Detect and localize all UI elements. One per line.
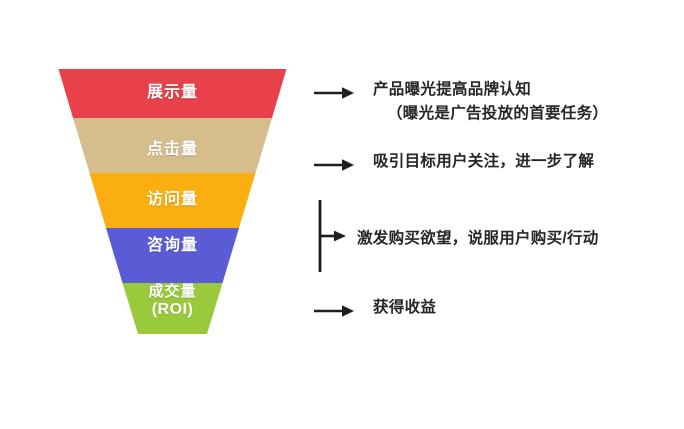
annotation-text-visits-consults: 激发购买欲望，说服用户购买/行动 xyxy=(357,227,599,251)
arrow-right-icon xyxy=(313,85,355,101)
annotation-line2-impressions: （曝光是广告投放的首要任务） xyxy=(373,102,608,126)
funnel-shape xyxy=(50,62,295,342)
annotation-text-clicks: 吸引目标用户关注，进一步了解 xyxy=(373,150,594,174)
conversion-funnel: 展示量 点击量 访问量 咨询量 成交量 (ROI) xyxy=(50,62,295,342)
arrow-right-icon xyxy=(313,303,355,319)
funnel-band-5 xyxy=(123,283,223,334)
funnel-band-1 xyxy=(59,69,287,118)
annotation-line1-impressions: 产品曝光提高品牌认知 xyxy=(373,81,531,98)
bracket-arrow-icon xyxy=(317,198,347,274)
arrow-right-icon xyxy=(313,157,355,173)
annotation-clicks: 吸引目标用户关注，进一步了解 xyxy=(313,150,594,174)
annotation-visits-consults: 激发购买欲望，说服用户购买/行动 xyxy=(317,198,599,274)
annotation-text-transactions: 获得收益 xyxy=(373,296,436,320)
annotation-transactions: 获得收益 xyxy=(313,296,436,320)
funnel-diagram: 展示量 点击量 访问量 咨询量 成交量 (ROI) 产品曝光提高品牌认知 （曝光… xyxy=(0,0,684,429)
annotation-line1-clicks: 吸引目标用户关注，进一步了解 xyxy=(373,153,594,170)
funnel-band-4 xyxy=(106,228,239,283)
annotation-line1-visits-consults: 激发购买欲望，说服用户购买/行动 xyxy=(357,230,599,247)
funnel-band-2 xyxy=(73,118,272,173)
funnel-band-3 xyxy=(90,173,256,228)
annotation-impressions: 产品曝光提高品牌认知 （曝光是广告投放的首要任务） xyxy=(313,78,608,126)
annotation-line1-transactions: 获得收益 xyxy=(373,299,436,316)
annotation-text-impressions: 产品曝光提高品牌认知 （曝光是广告投放的首要任务） xyxy=(373,78,608,126)
